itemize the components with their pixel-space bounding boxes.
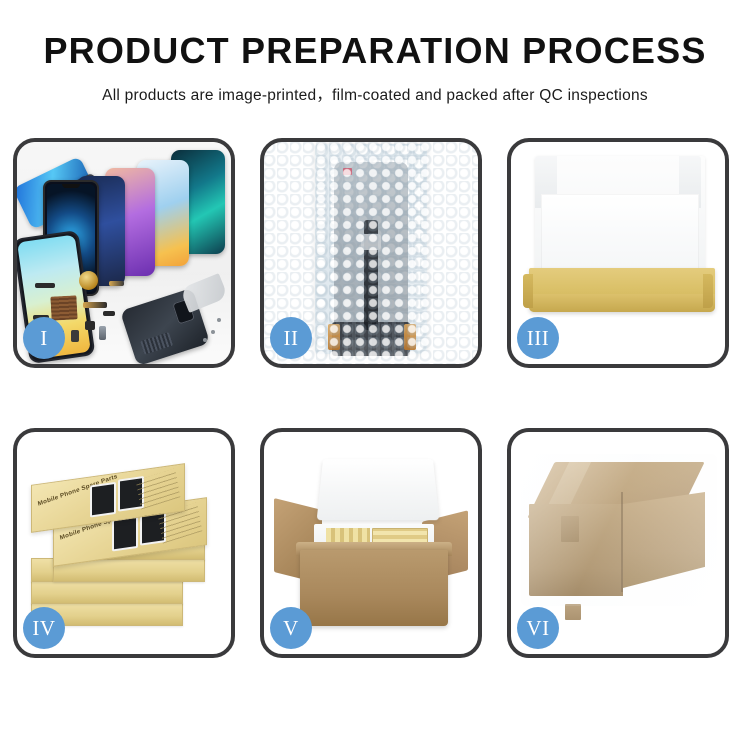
retail-box-stacked (31, 580, 183, 604)
step-badge-6: VI (517, 607, 559, 649)
step-badge-4: IV (23, 607, 65, 649)
process-step-4[interactable]: Mobile Phone Spare Parts Mobile Phone Sp… (13, 428, 235, 658)
process-step-5[interactable]: V (260, 428, 482, 658)
process-step-1[interactable]: I (13, 138, 235, 368)
foam-sheet (541, 194, 699, 276)
screw-part (211, 330, 215, 334)
screen-notch (62, 184, 80, 188)
carton-corner-seam (621, 492, 623, 592)
charging-coil (140, 332, 173, 355)
process-grid: I II (13, 138, 737, 658)
qc-sticker (343, 168, 352, 175)
process-step-3[interactable]: III (507, 138, 729, 368)
header: PRODUCT PREPARATION PROCESS All products… (0, 0, 750, 105)
box-product-window (112, 516, 138, 552)
carton-side (623, 492, 705, 588)
connector-part (85, 321, 95, 330)
process-step-6[interactable]: VI (507, 428, 729, 658)
adhesive-tape-right (404, 324, 416, 350)
page-subtitle: All products are image-printed，film-coat… (0, 83, 750, 105)
connector-part (71, 330, 79, 342)
kraft-tray-left-side (523, 274, 533, 308)
step-badge-2: II (270, 317, 312, 359)
step-badge-1: I (23, 317, 65, 359)
step-badge-5: V (270, 607, 312, 649)
driver-ic-area (332, 322, 410, 356)
display-connector (361, 234, 381, 250)
page-root: PRODUCT PREPARATION PROCESS All products… (0, 0, 750, 750)
carton-flap-tab (565, 604, 581, 620)
adhesive-tape-left (328, 324, 340, 350)
carton-flap-tab (561, 516, 579, 542)
antenna-strip-part (103, 311, 115, 316)
flex-cable-part (109, 281, 124, 286)
foam-box-lid (317, 459, 440, 520)
step-badge-3: III (517, 317, 559, 359)
box-spec-lines (136, 468, 181, 509)
screw-part (217, 318, 221, 322)
kraft-tray-front (529, 294, 715, 312)
flex-cable-part (35, 283, 55, 288)
screw-part (203, 338, 207, 342)
speaker-mesh-part (50, 295, 77, 320)
carton-front (300, 550, 448, 626)
sim-tray-part (99, 326, 106, 340)
flex-cable-part (83, 302, 107, 308)
kraft-tray-right-side (703, 274, 713, 308)
process-step-2[interactable]: II (260, 138, 482, 368)
page-title: PRODUCT PREPARATION PROCESS (0, 33, 750, 69)
box-product-window (90, 482, 116, 518)
vibration-motor-part (79, 271, 98, 290)
